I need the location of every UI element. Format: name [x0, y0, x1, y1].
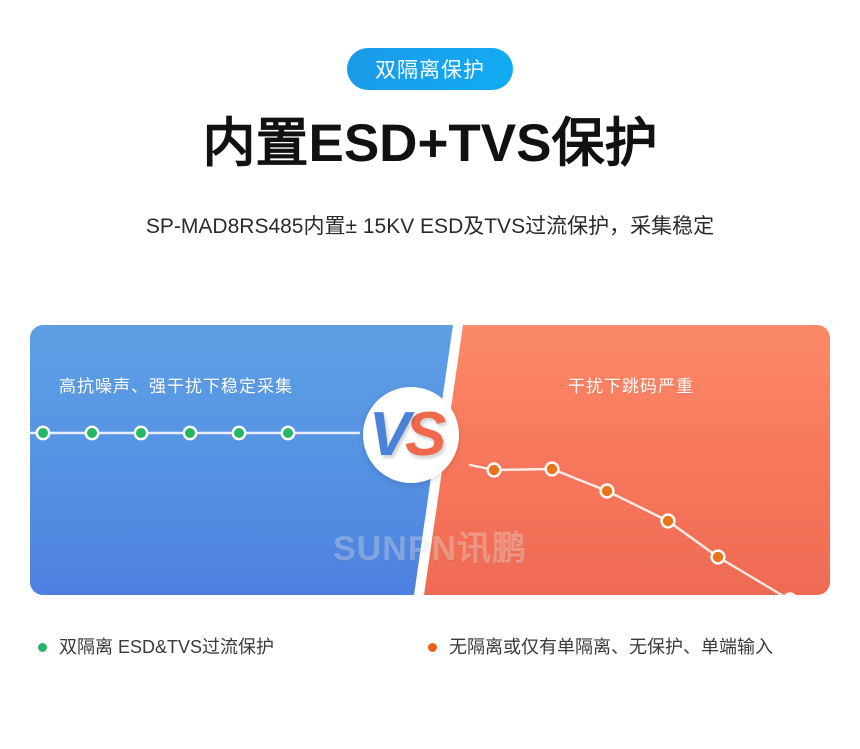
legend-label-isolated: 双隔离 ESD&TVS过流保护 — [59, 634, 274, 660]
vs-badge-inner: V S — [363, 387, 459, 483]
promo-page: 双隔离保护 内置ESD+TVS保护 SP-MAD8RS485内置± 15KV E… — [0, 0, 860, 749]
badge-row: 双隔离保护 — [0, 48, 860, 90]
legend-label-unisolated: 无隔离或仅有单隔离、无保护、单端输入 — [449, 634, 773, 660]
legend-item-unisolated: 无隔离或仅有单隔离、无保护、单端输入 — [428, 634, 773, 660]
page-subtitle: SP-MAD8RS485内置± 15KV ESD及TVS过流保护，采集稳定 — [0, 210, 860, 244]
legend-dot-green-icon — [38, 643, 47, 652]
vs-badge: V S — [363, 387, 459, 483]
comparison-block: 高抗噪声、强干扰下稳定采集 干扰下跳码严重 SUNPN讯鹏 V S — [30, 325, 830, 595]
page-title: 内置ESD+TVS保护 — [0, 112, 860, 176]
vs-letter-v: V — [369, 387, 410, 483]
watermark: SUNPN讯鹏 — [30, 521, 830, 570]
legend: 双隔离 ESD&TVS过流保护 无隔离或仅有单隔离、无保护、单端输入 — [30, 634, 830, 664]
right-panel-caption: 干扰下跳码严重 — [568, 372, 694, 397]
left-panel-caption: 高抗噪声、强干扰下稳定采集 — [59, 372, 293, 397]
vs-letter-s: S — [405, 387, 446, 483]
feature-badge: 双隔离保护 — [347, 48, 513, 90]
legend-dot-orange-icon — [428, 643, 437, 652]
legend-item-isolated: 双隔离 ESD&TVS过流保护 — [38, 634, 274, 660]
